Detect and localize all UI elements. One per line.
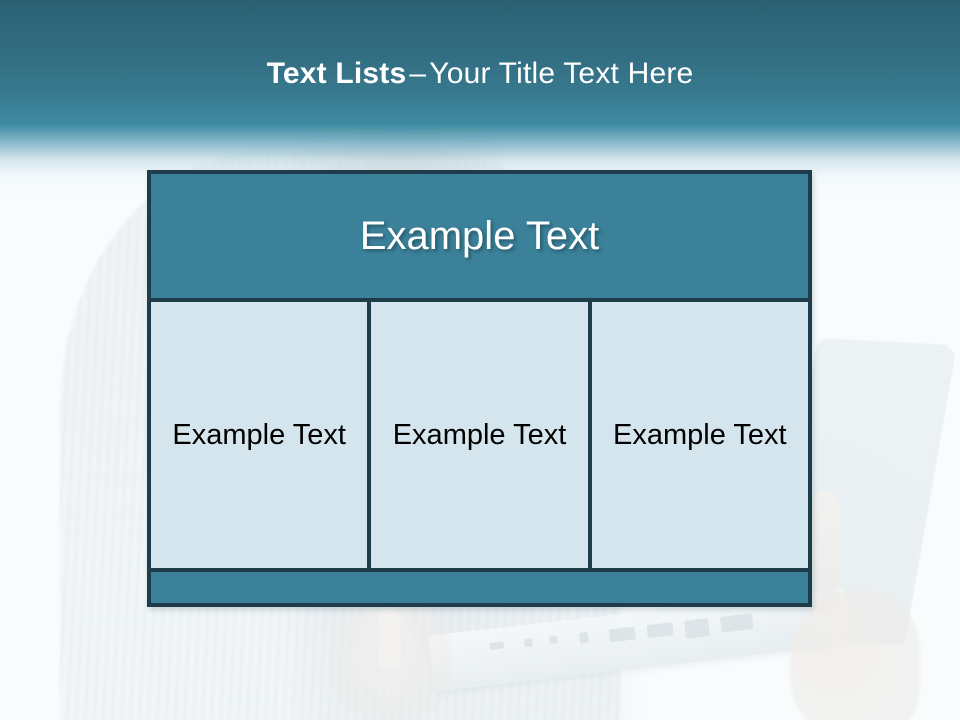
table-header-label: Example Text (360, 214, 599, 258)
table-column-3[interactable]: Example Text (588, 302, 808, 568)
page-title-dash: – (406, 57, 429, 90)
table-column-label: Example Text (613, 418, 787, 453)
page-title: Text Lists–Your Title Text Here (0, 54, 960, 94)
table-header[interactable]: Example Text (151, 174, 808, 302)
table-column-label: Example Text (172, 418, 346, 453)
text-list-table: Example Text Example Text Example Text E… (147, 170, 812, 607)
slide-canvas: Text Lists–Your Title Text Here Example … (0, 0, 960, 720)
table-footer[interactable] (151, 568, 808, 603)
table-column-1[interactable]: Example Text (151, 302, 367, 568)
table-body: Example Text Example Text Example Text (151, 302, 808, 568)
page-title-bold: Text Lists (267, 57, 407, 90)
table-column-2[interactable]: Example Text (367, 302, 587, 568)
table-column-label: Example Text (393, 418, 567, 453)
page-title-rest: Your Title Text Here (429, 57, 693, 90)
